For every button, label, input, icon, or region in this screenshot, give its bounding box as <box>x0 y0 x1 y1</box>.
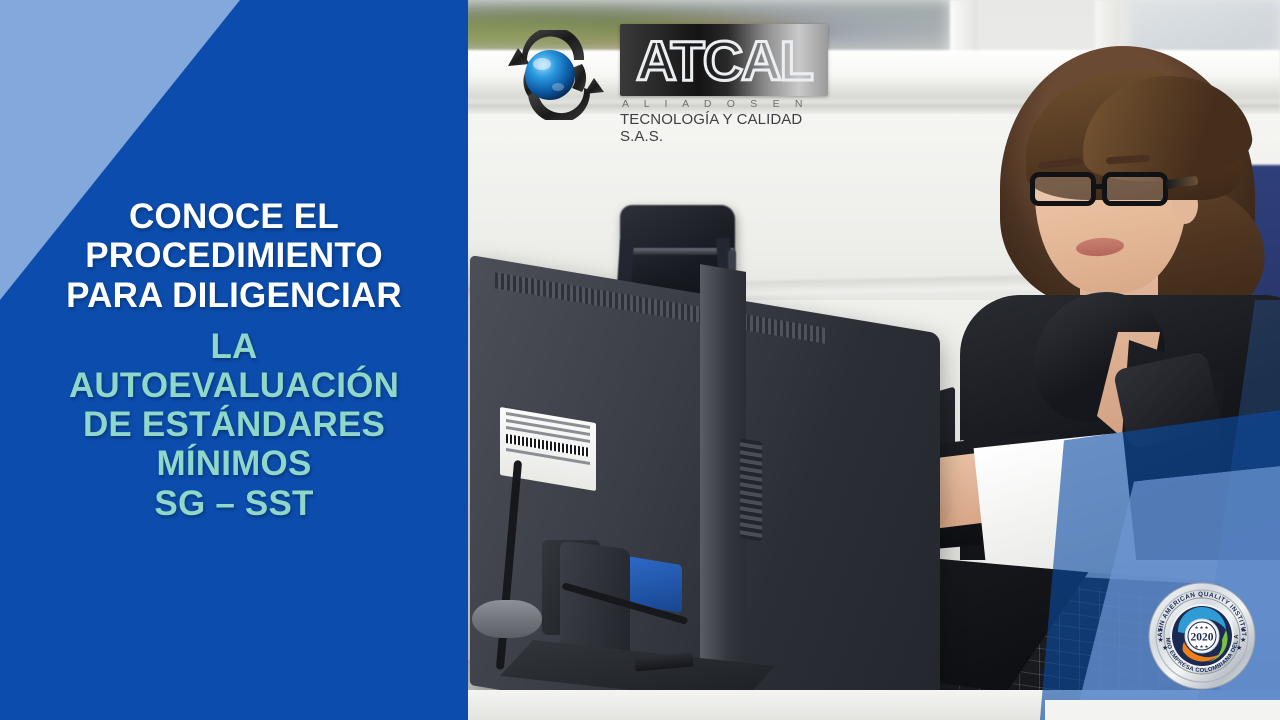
svg-text:★: ★ <box>1158 626 1164 634</box>
quality-award-seal: 2020 ★★★ ★★★ LATIN AMERICAN QUALITY INST… <box>1148 582 1256 690</box>
headline-line-4: LA <box>69 327 399 366</box>
atcal-wordmark: ATCAL <box>620 24 828 96</box>
svg-text:★★★: ★★★ <box>1194 644 1209 649</box>
lens-right <box>1102 172 1168 206</box>
overlay-bottom-strip <box>1045 700 1280 720</box>
svg-text:★: ★ <box>1162 644 1168 652</box>
atcal-wordmark-text: ATCAL <box>636 28 812 93</box>
headline-line-6: DE ESTÁNDARES <box>69 405 399 444</box>
slide-canvas: acer CONOCE EL PROCEDIMIENTO PARA DILIGE… <box>0 0 1280 720</box>
logo-tagline-bottom: TECNOLOGÍA Y CALIDAD S.A.S. <box>620 111 828 145</box>
svg-text:★: ★ <box>1240 626 1246 634</box>
headline-line-7: MÍNIMOS <box>69 444 399 483</box>
headline-line-1: CONOCE EL <box>66 197 402 236</box>
lens-left <box>1030 172 1096 206</box>
logo-tagline-top: A L I A D O S E N <box>622 98 809 110</box>
headline-block: CONOCE EL PROCEDIMIENTO PARA DILIGENCIAR… <box>0 0 468 720</box>
svg-text:★: ★ <box>1240 636 1246 644</box>
round-stand-foot <box>472 600 542 638</box>
monitor-vent-side <box>740 438 762 542</box>
headline-teal-group: LA AUTOEVALUACIÓN DE ESTÁNDARES MÍNIMOS … <box>69 327 399 523</box>
headline-line-8: SG – SST <box>69 484 399 523</box>
seal-year: 2020 <box>1191 632 1214 644</box>
eyeglasses <box>1030 172 1190 208</box>
svg-text:★★★: ★★★ <box>1194 625 1209 630</box>
headline-line-2: PROCEDIMIENTO <box>66 236 402 275</box>
headline-white-group: CONOCE EL PROCEDIMIENTO PARA DILIGENCIAR <box>66 197 402 315</box>
glasses-bridge <box>1094 184 1106 189</box>
atcal-logo: ATCAL A L I A D O S E N TECNOLOGÍA Y CAL… <box>498 18 828 130</box>
headline-line-3: PARA DILIGENCIAR <box>66 276 402 315</box>
rotating-arrows-sphere-icon <box>498 30 614 120</box>
headline-line-5: AUTOEVALUACIÓN <box>69 366 399 405</box>
svg-text:★: ★ <box>1236 644 1242 652</box>
svg-text:★: ★ <box>1158 636 1164 644</box>
